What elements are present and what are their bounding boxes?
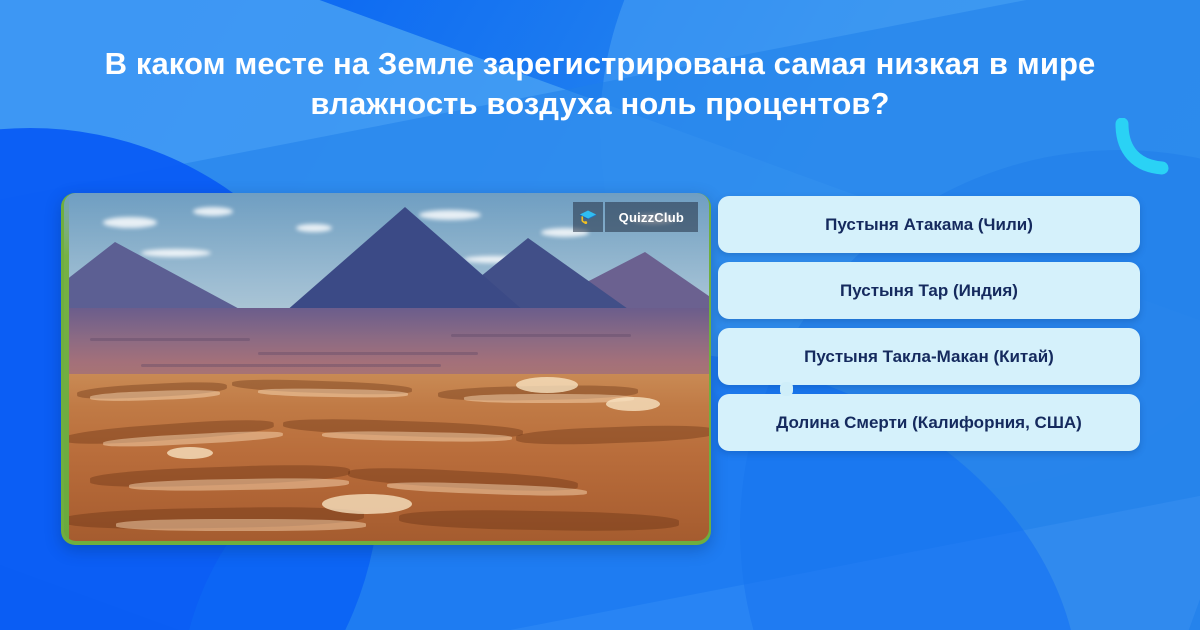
image-edge-accent — [64, 193, 69, 541]
question-image — [64, 193, 709, 541]
answer-option-1[interactable]: Пустыня Атакама (Чили) — [718, 196, 1140, 253]
brand-name: QuizzClub — [605, 202, 698, 232]
cyan-arc-icon — [1112, 118, 1172, 178]
answer-option-3[interactable]: Пустыня Такла-Макан (Китай) — [718, 328, 1140, 385]
answer-option-4[interactable]: Долина Смерти (Калифорния, США) — [718, 394, 1140, 451]
answer-option-2[interactable]: Пустыня Тар (Индия) — [718, 262, 1140, 319]
mountain-ridge-left — [64, 242, 245, 312]
answer-options-list: Пустыня Атакама (Чили) Пустыня Тар (Инди… — [718, 196, 1140, 451]
answer-option-4-label: Долина Смерти (Калифорния, США) — [776, 411, 1082, 434]
option-connector — [780, 382, 793, 396]
volcano-peak — [277, 207, 533, 319]
cloud — [193, 207, 233, 216]
brand-badge: QuizzClub — [573, 202, 698, 232]
answer-option-3-label: Пустыня Такла-Макан (Китай) — [804, 345, 1054, 368]
answer-option-1-label: Пустыня Атакама (Чили) — [825, 213, 1033, 236]
question-image-card: QuizzClub — [61, 193, 711, 545]
answer-option-2-label: Пустыня Тар (Индия) — [840, 279, 1018, 302]
image-plain — [64, 308, 709, 385]
graduation-cap-icon — [573, 202, 603, 232]
quiz-card: В каком месте на Земле зарегистрирована … — [0, 0, 1200, 630]
page-title: В каком месте на Земле зарегистрирована … — [95, 44, 1105, 124]
image-foreground-badlands — [64, 374, 709, 541]
